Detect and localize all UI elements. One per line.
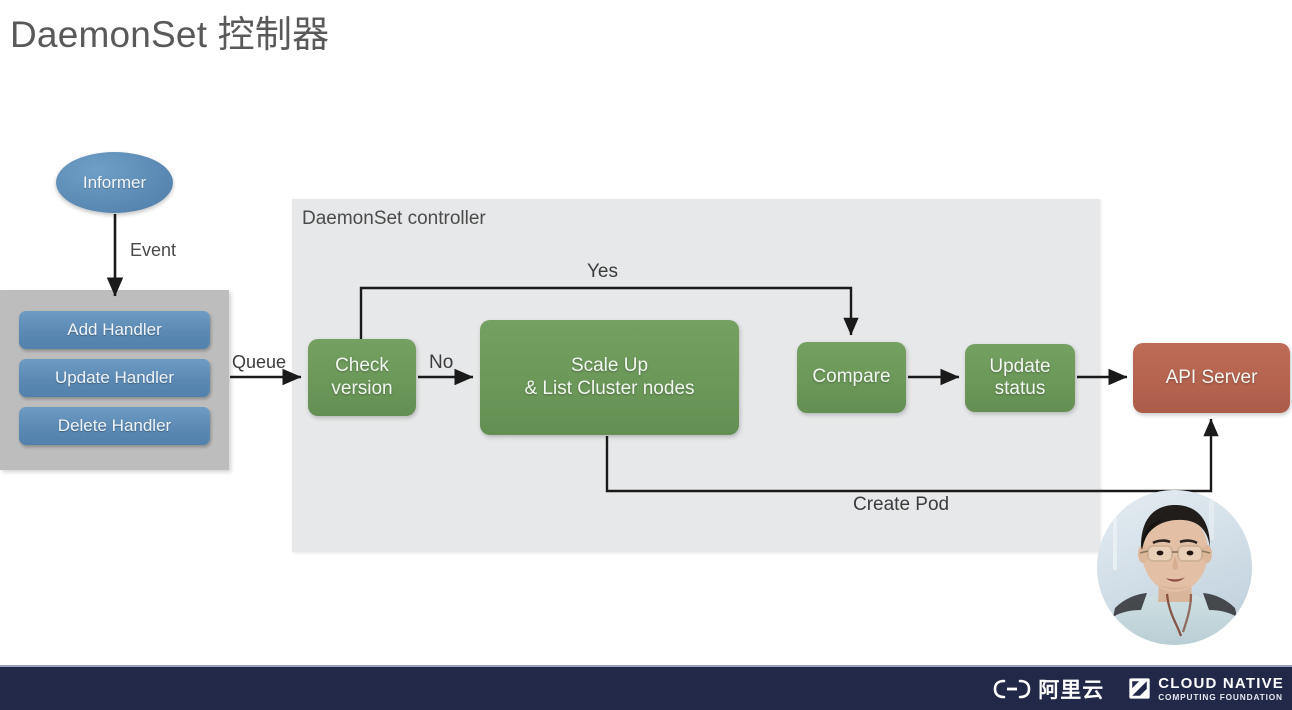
footer-bar: 阿里云 CLOUD NATIVE COMPUTING FOUNDATION bbox=[0, 665, 1292, 710]
node-update-status-label: Update status bbox=[989, 356, 1050, 401]
node-api-server-label: API Server bbox=[1166, 367, 1258, 389]
presenter-video-thumbnail bbox=[1097, 490, 1252, 645]
node-scale-up-line2: & List Cluster nodes bbox=[524, 378, 694, 399]
presenter-portrait bbox=[1097, 490, 1252, 645]
node-api-server: API Server bbox=[1133, 343, 1290, 413]
alibaba-cloud-mark-icon bbox=[993, 679, 1031, 699]
node-scale-up: Scale Up & List Cluster nodes bbox=[480, 320, 739, 435]
add-handler-item: Add Handler bbox=[19, 311, 210, 349]
handler-group: Add Handler Update Handler Delete Handle… bbox=[0, 290, 229, 470]
cncf-logo: CLOUD NATIVE COMPUTING FOUNDATION bbox=[1128, 676, 1284, 701]
cncf-line2: COMPUTING FOUNDATION bbox=[1158, 693, 1284, 701]
queue-arrow-label: Queue bbox=[232, 352, 286, 373]
edge-label-yes: Yes bbox=[587, 261, 618, 283]
informer-node: Informer bbox=[56, 152, 173, 213]
slide-canvas: DaemonSet 控制器 Informer Event Add Handler… bbox=[0, 0, 1292, 710]
node-scale-up-label: Scale Up & List Cluster nodes bbox=[524, 355, 694, 400]
node-check-version-line1: Check bbox=[335, 355, 389, 376]
alibaba-cloud-label: 阿里云 bbox=[1038, 674, 1104, 704]
cncf-line1: CLOUD NATIVE bbox=[1158, 676, 1284, 691]
delete-handler-label: Delete Handler bbox=[58, 416, 171, 436]
add-handler-label: Add Handler bbox=[67, 320, 162, 340]
cncf-mark-icon bbox=[1128, 677, 1151, 700]
update-handler-item: Update Handler bbox=[19, 359, 210, 397]
node-check-version-line2: version bbox=[331, 378, 392, 399]
footer-logos: 阿里云 CLOUD NATIVE COMPUTING FOUNDATION bbox=[993, 667, 1284, 710]
node-check-version: Check version bbox=[308, 339, 416, 416]
node-check-version-label: Check version bbox=[331, 355, 392, 400]
node-scale-up-line1: Scale Up bbox=[571, 355, 648, 376]
cncf-text-block: CLOUD NATIVE COMPUTING FOUNDATION bbox=[1158, 676, 1284, 701]
node-update-status: Update status bbox=[965, 344, 1075, 412]
node-update-status-line1: Update bbox=[989, 356, 1050, 377]
informer-label: Informer bbox=[83, 173, 146, 193]
delete-handler-item: Delete Handler bbox=[19, 407, 210, 445]
controller-panel-title: DaemonSet controller bbox=[302, 208, 486, 230]
node-compare: Compare bbox=[797, 342, 906, 413]
page-title: DaemonSet 控制器 bbox=[10, 4, 329, 58]
update-handler-label: Update Handler bbox=[55, 368, 174, 388]
edge-label-create-pod: Create Pod bbox=[853, 494, 949, 516]
node-update-status-line2: status bbox=[995, 378, 1046, 399]
node-compare-label: Compare bbox=[812, 366, 890, 388]
edge-label-no: No bbox=[429, 352, 453, 374]
event-arrow-label: Event bbox=[130, 240, 176, 261]
alibaba-cloud-logo: 阿里云 bbox=[993, 674, 1104, 704]
